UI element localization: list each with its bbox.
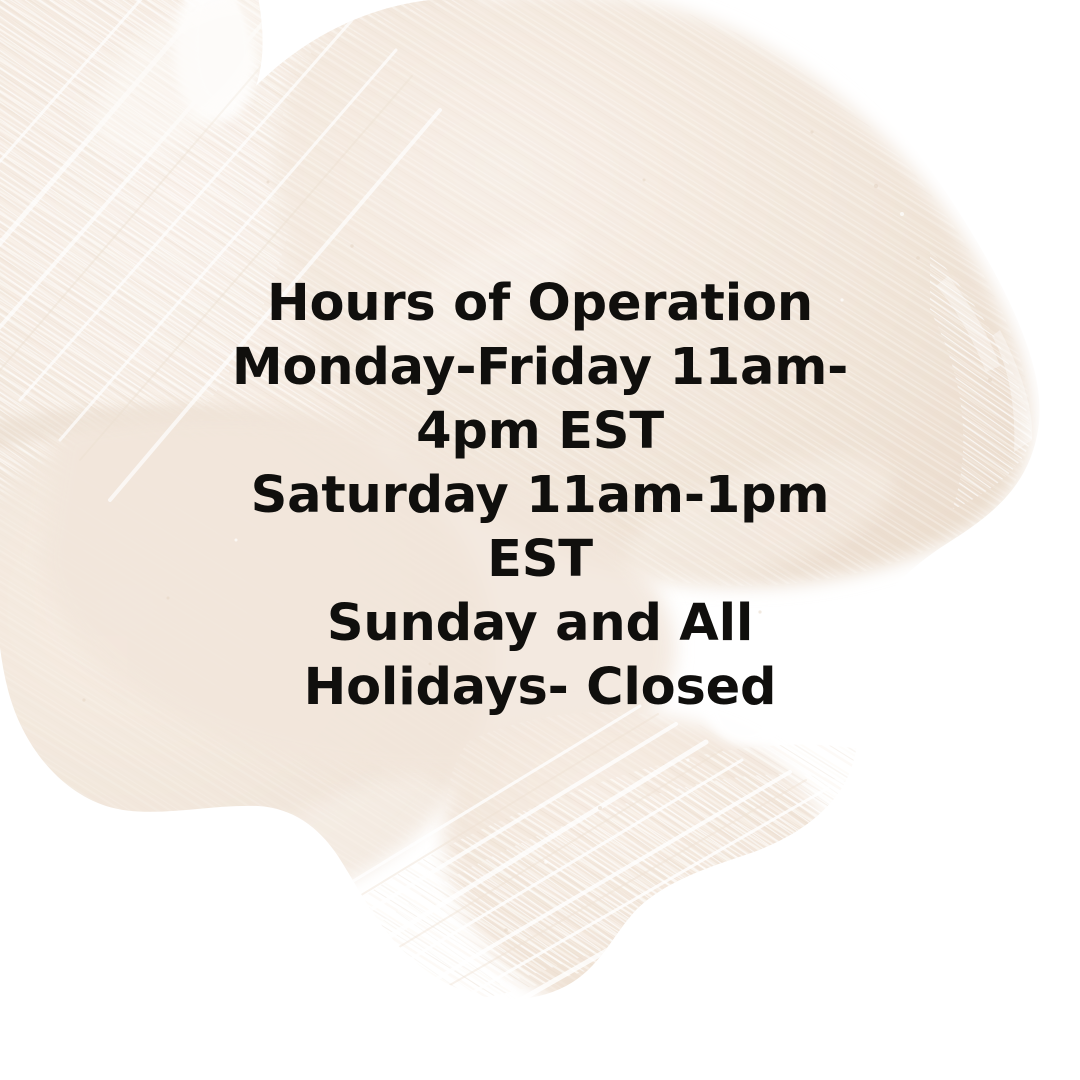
hours-line-weekday: Monday-Friday 11am- xyxy=(0,336,1080,400)
hours-line-sunday: Sunday and All xyxy=(0,592,1080,656)
hours-line-weekday-end: 4pm EST xyxy=(0,400,1080,464)
hours-text-block: Hours of Operation Monday-Friday 11am- 4… xyxy=(0,272,1080,720)
hours-line-holidays: Holidays- Closed xyxy=(0,656,1080,720)
hours-line-title: Hours of Operation xyxy=(0,272,1080,336)
hours-line-saturday: Saturday 11am-1pm xyxy=(0,464,1080,528)
hours-line-saturday-tz: EST xyxy=(0,528,1080,592)
hours-of-operation-graphic: Hours of Operation Monday-Friday 11am- 4… xyxy=(0,0,1080,1080)
